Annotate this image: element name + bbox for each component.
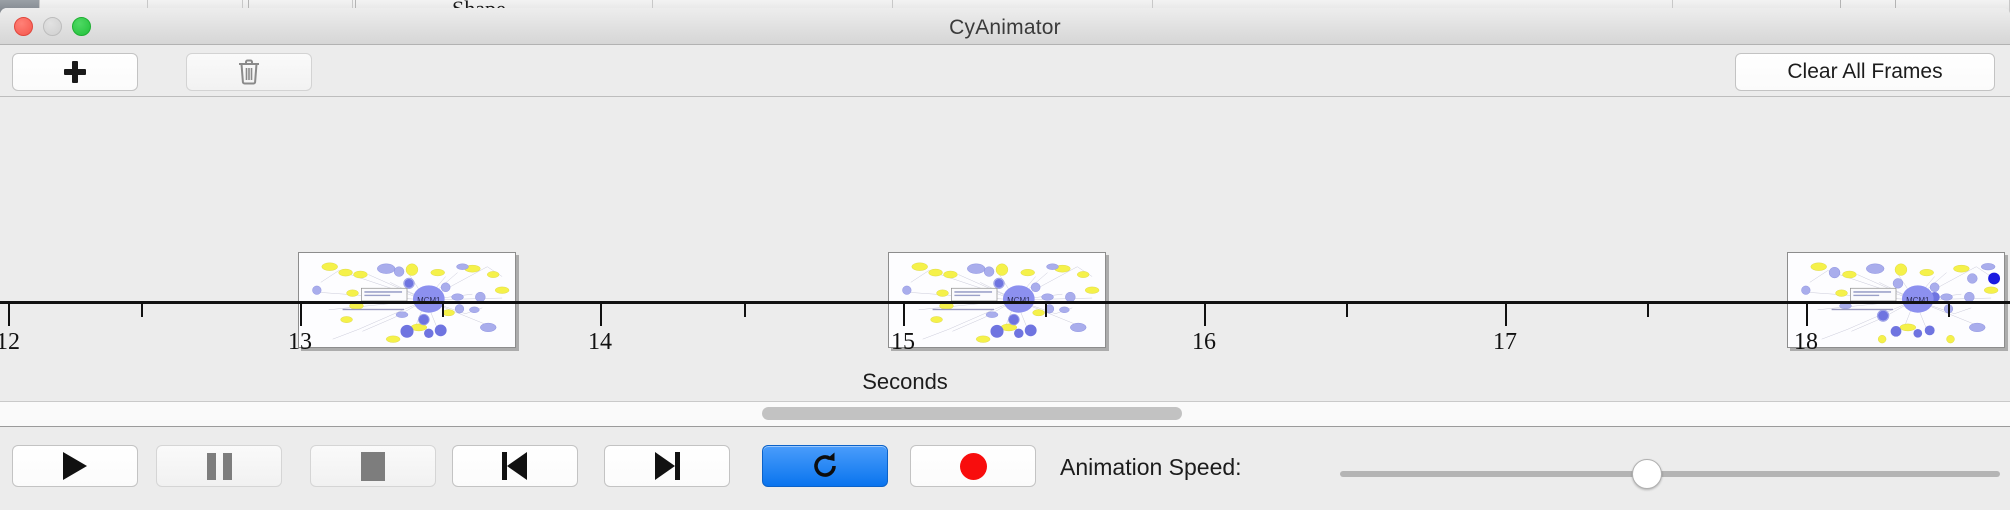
axis-tick — [1346, 304, 1348, 317]
frame-toolbar: Clear All Frames — [0, 45, 2010, 97]
animation-speed-slider-thumb[interactable] — [1632, 459, 1662, 489]
cyanimator-screen: Shape CyAnimator — [0, 0, 2010, 510]
skip-to-end-icon — [654, 452, 680, 480]
axis-tick — [1505, 304, 1507, 326]
plus-icon — [64, 61, 86, 83]
axis-tick — [1045, 304, 1047, 317]
record-button[interactable] — [910, 445, 1036, 487]
network-graph-preview: MCM1 — [889, 253, 1105, 347]
axis-tick-label: 16 — [1192, 329, 1216, 356]
axis-tick-label: 14 — [588, 329, 612, 356]
skip-to-end-button[interactable] — [604, 445, 730, 487]
axis-tick — [1647, 304, 1649, 317]
axis-tick — [600, 304, 602, 326]
axis-tick — [442, 304, 444, 317]
record-icon — [960, 453, 987, 480]
window-title: CyAnimator — [0, 16, 2010, 40]
timeline-axis-title: Seconds — [0, 369, 2010, 395]
delete-frame-button[interactable] — [186, 53, 312, 91]
animation-speed-slider[interactable] — [1340, 471, 2000, 477]
timeline-axis-title-label: Seconds — [862, 369, 948, 394]
clear-all-frames-label: Clear All Frames — [1787, 60, 1942, 84]
loop-button[interactable] — [762, 445, 888, 487]
clear-all-frames-button[interactable]: Clear All Frames — [1735, 53, 1995, 91]
loop-icon — [808, 449, 842, 483]
add-frame-button[interactable] — [12, 53, 138, 91]
axis-tick — [8, 304, 10, 326]
timeline-scrollbar-thumb[interactable] — [762, 407, 1182, 420]
axis-tick-label: 15 — [891, 329, 915, 356]
stop-icon — [361, 452, 385, 481]
axis-tick — [1204, 304, 1206, 326]
timeline-frame-thumbnail[interactable]: MCM1 — [1787, 252, 2005, 348]
pause-icon — [207, 453, 232, 480]
axis-tick — [903, 304, 905, 326]
axis-tick-label: 13 — [288, 329, 312, 356]
axis-tick-label: 12 — [0, 329, 20, 356]
axis-tick — [1948, 304, 1950, 317]
cyanimator-window: CyAnimator Clear All Frames — [0, 8, 2010, 510]
trash-icon — [237, 58, 261, 86]
timeline-frame-thumbnail[interactable]: MCM1 — [298, 252, 516, 348]
playback-controls: Animation Speed: — [0, 427, 2010, 509]
network-graph-preview: MCM1 — [299, 253, 515, 347]
timeline-frame-thumbnail[interactable]: MCM1 — [888, 252, 1106, 348]
timeline-scrollbar[interactable] — [0, 402, 2010, 427]
timeline-panel[interactable]: MCM1 — [0, 97, 2010, 402]
skip-to-start-button[interactable] — [452, 445, 578, 487]
play-button[interactable] — [12, 445, 138, 487]
axis-tick-label: 18 — [1794, 329, 1818, 356]
skip-to-start-icon — [502, 452, 528, 480]
network-graph-preview: MCM1 — [1788, 253, 2004, 347]
play-icon — [63, 452, 87, 480]
axis-tick-label: 17 — [1493, 329, 1517, 356]
window-titlebar: CyAnimator — [0, 8, 2010, 45]
animation-speed-label: Animation Speed: — [1060, 454, 1242, 481]
axis-tick — [300, 304, 302, 326]
axis-tick — [744, 304, 746, 317]
stop-button[interactable] — [310, 445, 436, 487]
axis-tick — [1806, 304, 1808, 326]
axis-tick — [141, 304, 143, 317]
pause-button[interactable] — [156, 445, 282, 487]
